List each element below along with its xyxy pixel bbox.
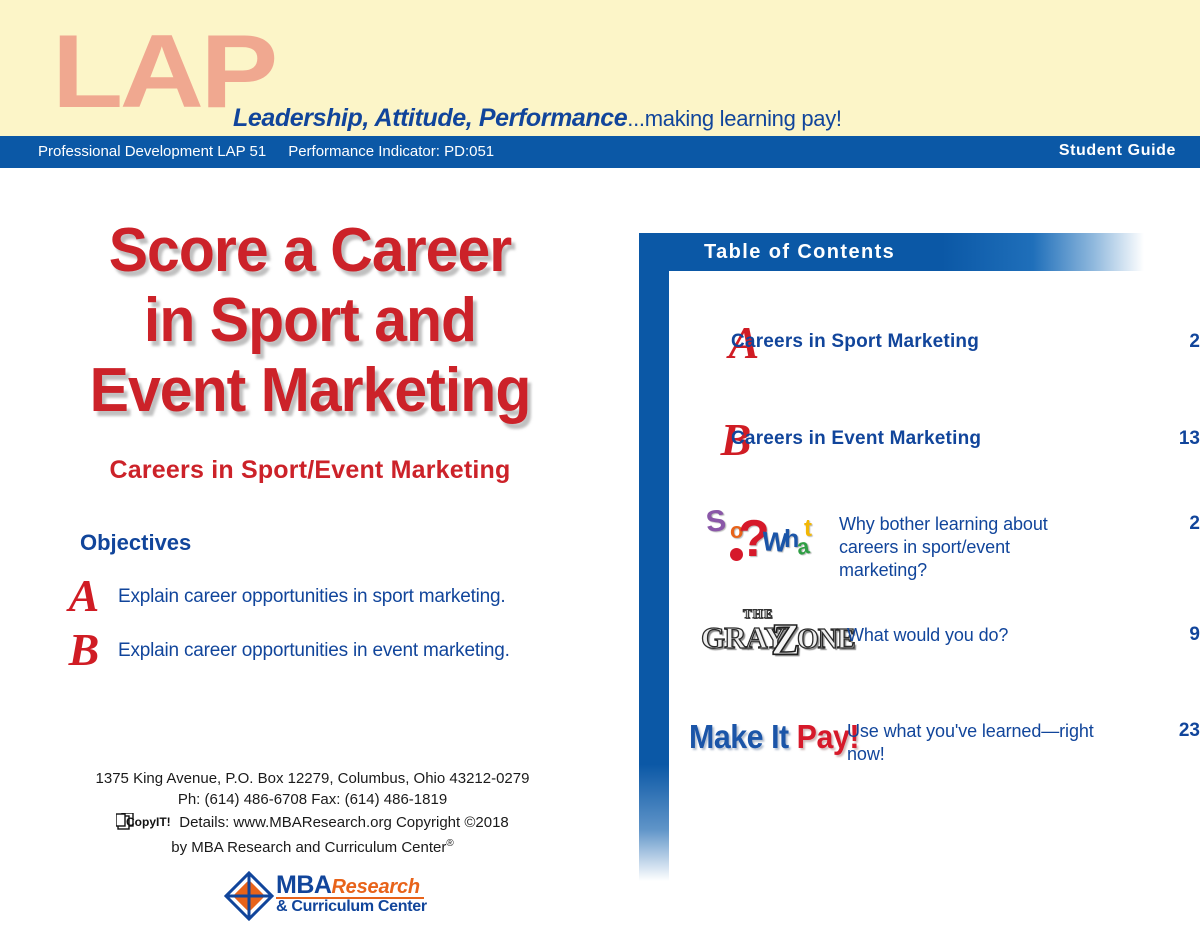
make-it-pay-blue: Make It [689,718,797,755]
table-of-contents-panel: Table of Contents A Careers in Sport Mar… [639,233,1200,883]
footer-address: 1375 King Avenue, P.O. Box 12279, Columb… [0,768,625,789]
copyit-icon: CopyIT! [116,813,174,830]
mba-logo-curriculum: & Curriculum Center [276,898,427,916]
footer-block: 1375 King Avenue, P.O. Box 12279, Columb… [0,768,625,858]
toc-row[interactable]: THE GRAY Z ONE What would you do? 9 [669,606,1200,696]
toc-row[interactable]: S o ? W h a t Why bother learning about … [669,501,1200,601]
so-what-t: t [804,515,812,543]
toc-entry-page: 2 [1154,513,1200,535]
toc-entry-label: Careers in Sport Marketing [731,331,979,353]
footer-byline-text: by MBA Research and Curriculum Center [171,839,446,856]
toc-entry-label: What would you do? [847,624,1107,647]
footer-registered-mark: ® [446,838,453,849]
toc-row[interactable]: A Careers in Sport Marketing 2 [669,319,1200,409]
toc-entry-label: Why bother learning about careers in spo… [839,513,1089,582]
objective-text: Explain career opportunities in event ma… [118,640,510,662]
masthead: LAP Leadership, Attitude, Performance...… [0,0,1200,136]
title-line-3: Event Marketing [16,356,605,426]
letter-a-icon: A [60,572,108,620]
toc-entry-label: Careers in Event Marketing [731,428,981,450]
toc-entry-page: 13 [1154,428,1200,450]
mba-logo-research: Research [331,876,419,898]
tagline-light: ...making learning pay! [627,106,841,131]
page-subtitle: Careers in Sport/Event Marketing [0,456,620,485]
objective-text: Explain career opportunities in sport ma… [118,586,506,608]
lap-tagline: Leadership, Attitude, Performance...maki… [233,104,842,133]
toc-header-bar: Table of Contents [639,233,1144,271]
make-it-pay-icon: Make It Pay! [689,718,859,756]
so-what-dot [730,548,743,561]
toc-entry-page: 9 [1154,624,1200,646]
mba-research-logo: MBAResearch & Curriculum Center [224,871,424,921]
so-what-s: S [704,504,727,540]
footer-details-text: Details: www.MBAResearch.org Copyright ©… [179,814,509,831]
title-line-1: Score a Career [16,216,605,286]
objective-item: A Explain career opportunities in sport … [60,576,620,630]
title-line-2: in Sport and [16,286,605,356]
toc-entry-page: 2 [1154,331,1200,353]
toc-entry-label: Use what you've learned—right now! [847,720,1097,766]
performance-indicator: Performance Indicator: PD:051 [288,143,494,160]
tagline-bold: Leadership, Attitude, Performance [233,104,627,132]
toc-title: Table of Contents [704,241,895,264]
mba-logo-mba: MBA [276,871,331,899]
letter-b-icon: B [60,626,108,674]
footer-byline: by MBA Research and Curriculum Center® [0,833,625,858]
mba-logo-underline [276,897,424,899]
footer-phone: Ph: (614) 486-6708 Fax: (614) 486-1819 [0,789,625,810]
page-title: Score a Career in Sport and Event Market… [16,216,605,426]
svg-text:CopyIT!: CopyIT! [126,815,171,829]
footer-details-line: CopyIT! Details: www.MBAResearch.org Cop… [0,810,625,833]
gray-zone-z: Z [771,614,800,665]
document-info-bar: Professional Development LAP 51Performan… [0,136,1200,168]
toc-row[interactable]: B Careers in Event Marketing 13 [669,416,1200,506]
toc-entry-page: 23 [1154,720,1200,742]
objectives-heading: Objectives [80,530,191,556]
lap-number: Professional Development LAP 51 [38,143,266,160]
info-bar-left: Professional Development LAP 51Performan… [38,143,494,160]
so-what-icon: S o ? W h a t [700,501,818,567]
objective-item: B Explain career opportunities in event … [60,630,620,684]
guide-type-label: Student Guide [1059,142,1176,160]
mba-logo-text: MBAResearch & Curriculum Center [276,871,427,916]
mba-diamond-icon [224,871,274,921]
cover-left-column: Score a Career in Sport and Event Market… [0,168,625,927]
toc-left-accent-bar [639,233,669,881]
gray-zone-icon: THE GRAY Z ONE [697,606,837,660]
toc-row[interactable]: Make It Pay! Use what you've learned—rig… [669,706,1200,786]
